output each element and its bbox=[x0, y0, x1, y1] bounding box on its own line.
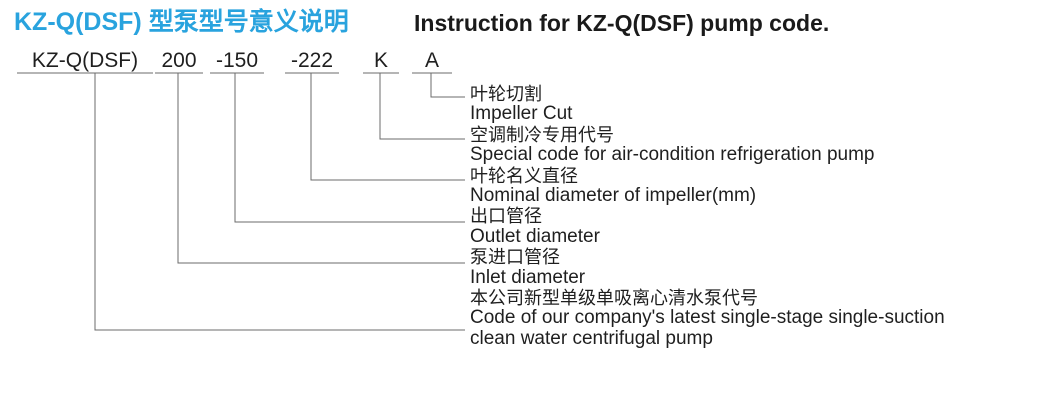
label-company-code-en-line1: Code of our company's latest single-stag… bbox=[470, 308, 1050, 328]
label-inlet-diameter-cn: 泵进口管径 bbox=[470, 247, 1050, 267]
leader-inlet-diameter bbox=[178, 73, 465, 263]
label-nominal-diameter-en: Nominal diameter of impeller(mm) bbox=[470, 186, 1050, 206]
label-outlet-diameter-cn: 出口管径 bbox=[470, 206, 1050, 226]
label-special-code-en: Special code for air-condition refrigera… bbox=[470, 145, 1050, 165]
label-nominal-diameter-cn: 叶轮名义直径 bbox=[470, 166, 1050, 186]
label-impeller-cut-cn: 叶轮切割 bbox=[470, 84, 1050, 104]
leader-impeller-diameter bbox=[311, 73, 465, 180]
label-impeller-cut-en: Impeller Cut bbox=[470, 104, 1050, 124]
label-company-code-en-line2: clean water centrifugal pump bbox=[470, 329, 1050, 349]
leader-series-code bbox=[95, 73, 465, 330]
label-inlet-diameter-en: Inlet diameter bbox=[470, 268, 1050, 288]
leader-special-code bbox=[380, 73, 465, 139]
leader-impeller-cut bbox=[431, 73, 465, 97]
label-company-code-cn: 本公司新型单级单吸离心清水泵代号 bbox=[470, 288, 1050, 308]
label-outlet-diameter-en: Outlet diameter bbox=[470, 227, 1050, 247]
label-special-code-cn: 空调制冷专用代号 bbox=[470, 125, 1050, 145]
label-column: 叶轮切割 Impeller Cut 空调制冷专用代号 Special code … bbox=[470, 84, 1050, 349]
